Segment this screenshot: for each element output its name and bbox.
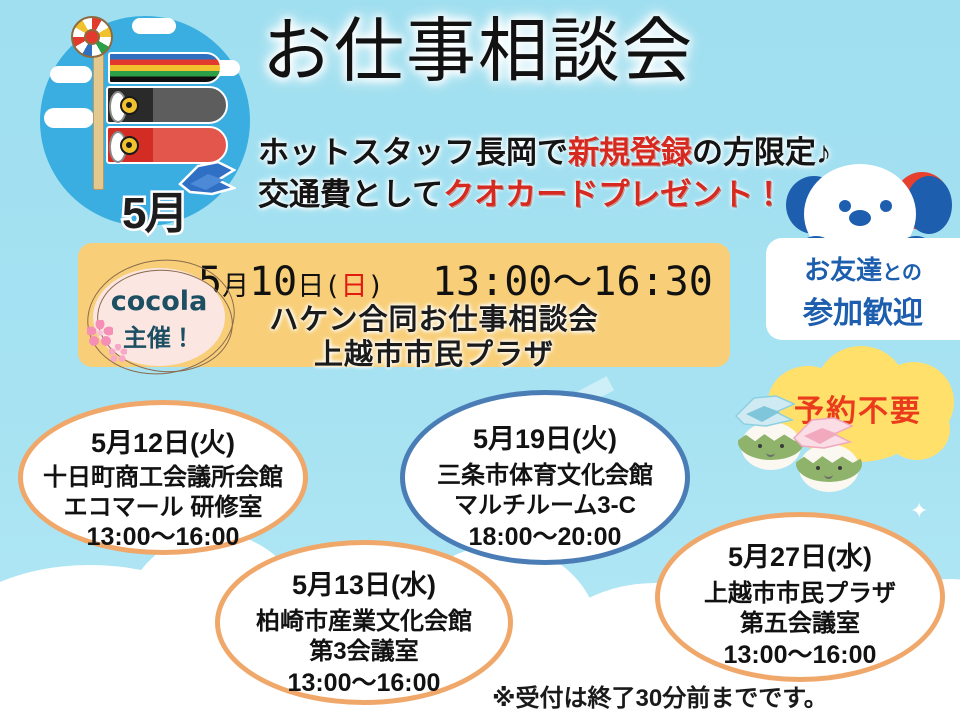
sign-line-2: 参加歓迎 <box>766 288 960 332</box>
cloud-icon <box>50 66 92 83</box>
session-date: 5月19日(火) <box>405 417 685 456</box>
subtitle-l2-accent: クオカードプレゼント！ <box>443 177 784 212</box>
sakura-flower-icon <box>109 344 127 362</box>
session-time: 13:00〜16:00 <box>23 517 303 553</box>
session-bubble[interactable]: 5月27日(水) 上越市市民プラザ 第五会議室 13:00〜16:00 <box>655 512 945 682</box>
kabuto-helmet-icon <box>178 158 236 198</box>
cloud-icon <box>132 18 176 34</box>
session-date: 5月12日(火) <box>23 421 303 460</box>
sparkle-icon: ✦ <box>910 500 928 522</box>
session-time: 18:00〜20:00 <box>405 517 685 553</box>
koinobori-logo: 5月 <box>22 8 252 236</box>
session-bubble[interactable]: 5月19日(火) 三条市体育文化会館 マルチルーム3-C 18:00〜20:00 <box>400 390 690 565</box>
cocola-name: cocola <box>93 286 225 317</box>
footer-note: ※受付は終了30分前までです。 <box>470 678 850 713</box>
session-room: マルチルーム3-C <box>405 485 685 520</box>
session-bubble[interactable]: 5月13日(水) 柏崎市産業文化会館 第3会議室 13:00〜16:00 <box>215 540 513 705</box>
mascot-eye-right <box>880 200 892 212</box>
subtitle-l1-accent: 新規登録 <box>568 135 692 170</box>
page-title: お仕事相談会 <box>262 18 782 88</box>
mascot-snout <box>849 210 871 226</box>
session-time: 13:00〜16:00 <box>660 635 940 671</box>
session-date: 5月13日(水) <box>220 563 508 602</box>
session-room: 第3会議室 <box>220 631 508 666</box>
flag-pole <box>93 36 104 190</box>
poster-canvas: ✦ ✦ ✦ 5月 お仕事相談会 ホットスタッフ長岡で <box>0 0 960 720</box>
mascot-sign: お友達との 参加歓迎 <box>766 238 960 340</box>
cloud-icon <box>44 108 94 128</box>
sign-line-1: お友達との <box>766 250 960 287</box>
logo-month-text: 5月 <box>122 160 186 245</box>
sakura-flower-icon <box>87 320 113 346</box>
session-room: 第五会議室 <box>660 603 940 638</box>
black-carp-icon <box>106 86 228 124</box>
kabuto-helmet-icon-blue <box>732 392 796 428</box>
subtitle-l1-plain-a: ホットスタッフ長岡で <box>258 135 568 170</box>
session-time: 13:00〜16:00 <box>220 663 508 699</box>
session-bubble[interactable]: 5月12日(火) 十日町商工会議所会館 エコマール 研修室 13:00〜16:0… <box>18 400 308 555</box>
pinwheel-icon <box>71 16 113 58</box>
mascot-eye-left <box>839 200 851 212</box>
rainbow-streamer-icon <box>108 52 222 84</box>
session-date: 5月27日(水) <box>660 535 940 574</box>
subtitle-l2-plain: 交通費として <box>258 177 443 212</box>
kabuto-helmet-icon-pink <box>790 414 854 450</box>
cocola-badge: cocola 主催！ <box>93 268 225 366</box>
